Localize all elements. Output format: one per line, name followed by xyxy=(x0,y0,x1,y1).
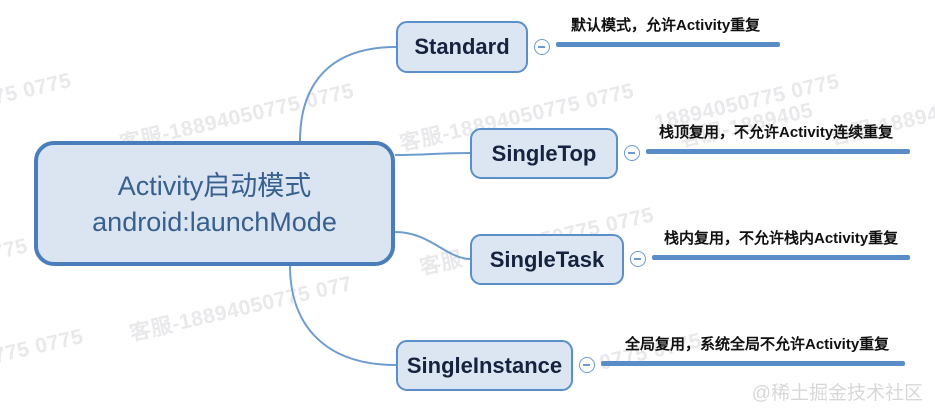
connector-singletop xyxy=(395,153,470,155)
collapse-toggle-singletask[interactable] xyxy=(630,251,646,267)
description-singleinstance: 全局复用，系统全局不允许Activity重复 xyxy=(625,333,889,354)
node-singleinstance[interactable]: SingleInstance xyxy=(396,340,573,391)
node-singletask[interactable]: SingleTask xyxy=(470,234,624,285)
root-title-line-1: Activity启动模式 xyxy=(118,168,312,204)
node-singletask-label: SingleTask xyxy=(490,247,605,273)
node-singletop-label: SingleTop xyxy=(492,141,597,167)
description-standard: 默认模式，允许Activity重复 xyxy=(571,14,760,35)
underline-bar-singletop xyxy=(646,149,910,154)
site-watermark: @稀土掘金技术社区 xyxy=(752,378,923,405)
root-node[interactable]: Activity启动模式 android:launchMode xyxy=(34,141,395,266)
node-standard-label: Standard xyxy=(414,34,509,60)
collapse-toggle-standard[interactable] xyxy=(534,39,550,55)
underline-bar-singleinstance xyxy=(601,361,905,366)
connector-standard xyxy=(300,47,396,141)
node-standard[interactable]: Standard xyxy=(396,21,528,73)
root-title-line-2: android:launchMode xyxy=(92,204,337,240)
mindmap-canvas: 0775 0775 客服-18894050775 0775 客服-1889405… xyxy=(0,0,935,411)
node-singleinstance-label: SingleInstance xyxy=(407,353,562,379)
description-singletask: 栈内复用，不允许栈内Activity重复 xyxy=(664,227,898,248)
connector-singletask xyxy=(395,232,470,259)
underline-bar-singletask xyxy=(652,255,910,260)
underline-bar-standard xyxy=(556,42,780,47)
connector-singleinstance xyxy=(290,266,396,365)
description-singletop: 栈顶复用，不允许Activity连续重复 xyxy=(659,121,893,142)
collapse-toggle-singletop[interactable] xyxy=(624,145,640,161)
node-singletop[interactable]: SingleTop xyxy=(470,128,618,179)
collapse-toggle-singleinstance[interactable] xyxy=(579,357,595,373)
